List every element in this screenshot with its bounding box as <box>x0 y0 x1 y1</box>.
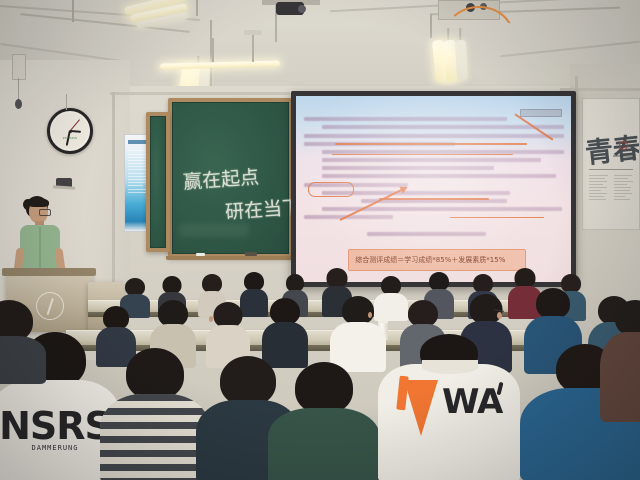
right-wall-poster: 青春 <box>582 98 640 230</box>
clock-hanger-wire <box>66 94 67 110</box>
slide-highlight-text: 综合测评成绩＝学习成绩*85%＋发展素质*15% <box>355 255 505 265</box>
jacket-graphic-text: WA <box>442 382 502 422</box>
slide-body-line <box>322 158 540 162</box>
classroom-photo: POLARIS 青春 <box>0 0 640 480</box>
shirt-graphic-subtext: DAMMERUNG <box>32 444 79 452</box>
chalk-piece <box>196 253 205 256</box>
student-body <box>0 336 46 384</box>
student-body <box>100 394 210 480</box>
slide-highlight-bar: 综合测评成绩＝学习成绩*85%＋发展素质*15% <box>348 249 526 271</box>
chalk-smudge <box>179 223 249 237</box>
student-front-left-edge <box>0 300 46 380</box>
eraser <box>245 252 257 256</box>
slide-annotation-box <box>308 182 354 197</box>
student-front-stripe <box>100 348 210 480</box>
student-front-3-green <box>268 362 380 480</box>
student-head <box>342 296 374 325</box>
wall-cord <box>18 78 19 100</box>
chalk-tray <box>166 256 295 260</box>
blackboard: 赢在起点 研在当下 <box>172 102 289 254</box>
presenter-glasses <box>39 209 51 216</box>
light-stem-back-a <box>212 38 214 62</box>
slide-body-line <box>322 166 494 170</box>
blackboard-left-partial <box>150 116 166 248</box>
student-ear <box>209 316 213 322</box>
shirt-graphic-text: NSRS <box>0 404 111 448</box>
student-front-5-dark <box>600 300 640 420</box>
presenter-fringe <box>28 198 49 207</box>
projector-lens <box>298 5 306 13</box>
wall-junction-box <box>12 54 26 80</box>
wall-rail-back <box>110 92 290 95</box>
slide-annotation-underline-1 <box>335 143 528 144</box>
fluorescent-light-right <box>432 28 472 83</box>
student-head <box>158 300 188 327</box>
left-poster-heading <box>128 140 146 144</box>
hanger-rod-1 <box>72 0 74 22</box>
student-body <box>268 408 380 480</box>
clock-center-pin <box>69 130 72 133</box>
slide-footer-line <box>367 232 487 236</box>
jacket-collar <box>422 360 478 374</box>
student-head <box>615 300 640 336</box>
right-poster-divider <box>589 169 633 170</box>
clock-brand-label: POLARIS <box>63 136 77 140</box>
student-head <box>327 268 348 288</box>
slide-annotation-underline-3 <box>379 198 489 199</box>
slide-body-line <box>322 174 556 178</box>
blackboard-frame-left-partial <box>146 112 170 252</box>
projector-screen[interactable]: 综合测评成绩＝学习成绩*85%＋发展素质*15% <box>296 96 571 282</box>
wall-clock: POLARIS <box>47 108 93 154</box>
right-poster-col-left <box>589 175 609 202</box>
slide-heading-line <box>304 117 507 121</box>
light-stem-back-b <box>252 34 254 62</box>
student-head <box>126 348 184 400</box>
student-head <box>536 288 570 319</box>
student-head <box>515 268 536 288</box>
student-head <box>295 362 353 414</box>
presenter-button-placket <box>39 227 41 271</box>
student-body <box>600 332 640 422</box>
projector-screen-frame: 综合测评成绩＝学习成绩*85%＋发展素质*15% <box>291 91 576 287</box>
wall-cord-end <box>15 99 22 109</box>
slide-body-line <box>304 134 564 138</box>
slide-spacer <box>304 224 564 228</box>
jacket-orange-v <box>404 380 438 436</box>
fluorescent-light-front-left <box>124 0 204 30</box>
shirt-stripes <box>100 394 210 480</box>
ceiling-plate <box>244 30 262 35</box>
blackboard-line-1: 赢在起点 <box>182 162 260 194</box>
podium-top-surface <box>2 268 96 276</box>
right-poster-caption <box>613 155 635 157</box>
slide-body-line <box>322 125 564 129</box>
slide-annotation-underline-2 <box>332 154 514 155</box>
student-ear <box>497 312 502 319</box>
student-head <box>408 300 438 327</box>
student-ear <box>368 312 372 318</box>
right-poster-col-right <box>614 175 634 202</box>
blackboard-frame: 赢在起点 研在当下 <box>168 98 293 258</box>
right-poster-calligraphy: 青春 <box>583 126 640 172</box>
student-head <box>270 298 300 325</box>
slide-badge[interactable] <box>520 109 562 117</box>
right-poster-seal <box>619 141 628 150</box>
student-front-wa-jacket: WA <box>378 334 520 480</box>
